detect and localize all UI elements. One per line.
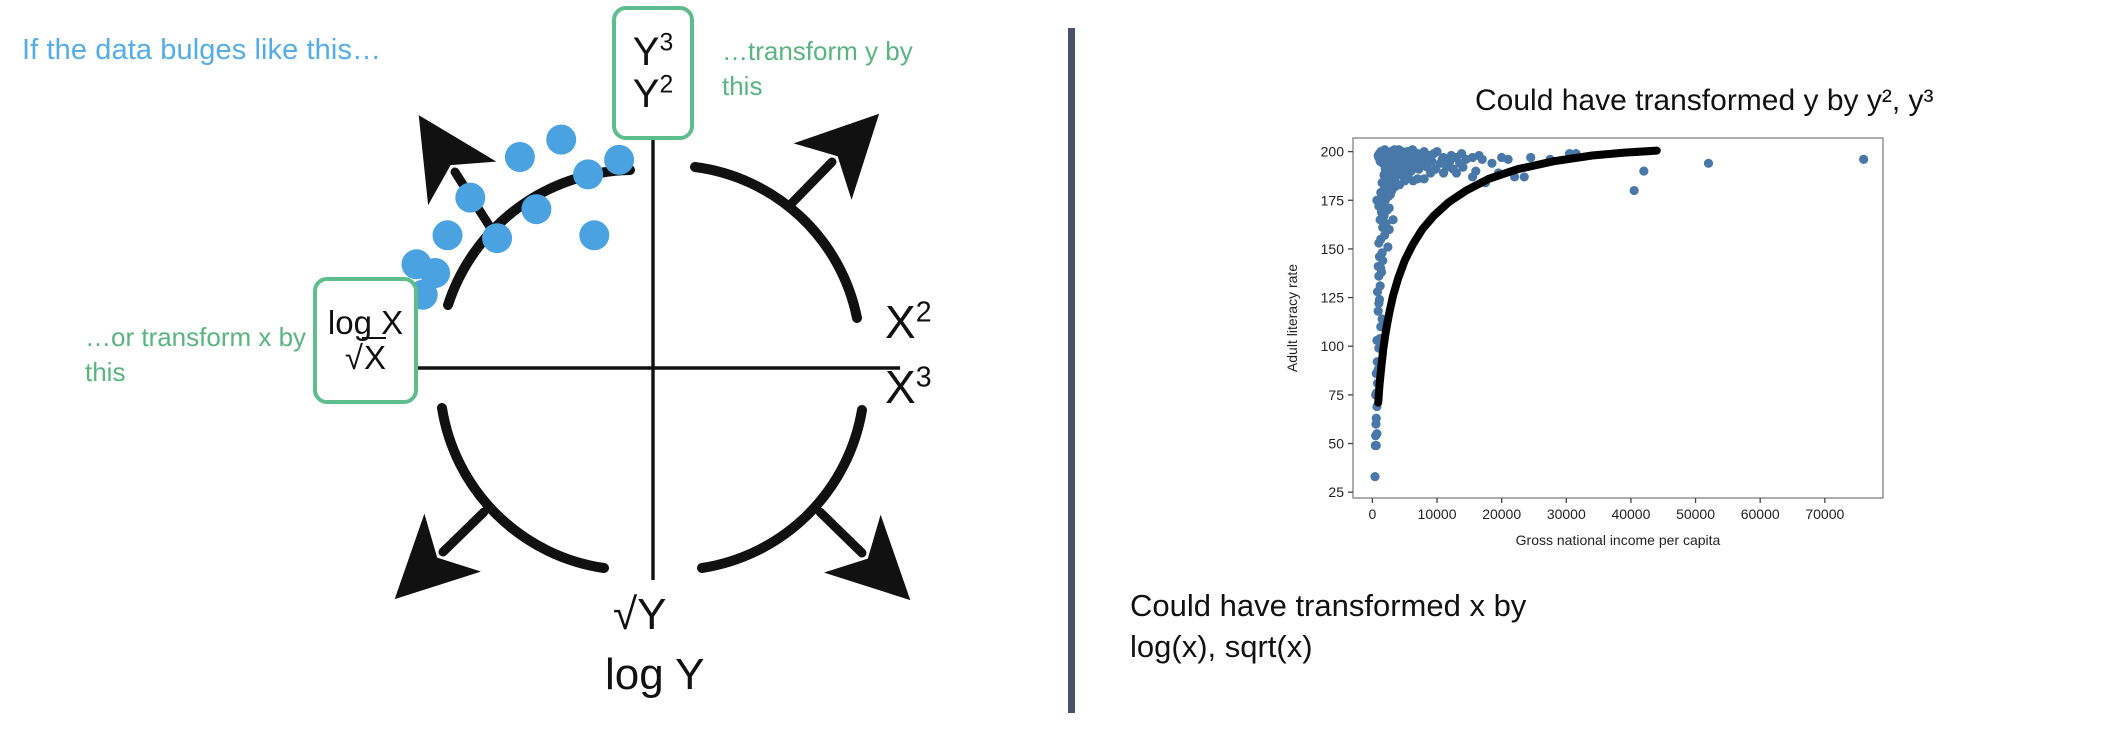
- arc-lower-right: [702, 410, 862, 568]
- scatter-point: [1374, 307, 1383, 316]
- axis-label-x-cubed: X3: [885, 360, 932, 414]
- x-tick-label: 60000: [1741, 506, 1780, 522]
- scatter-chart-panel: Could have transformed y by y², y³ 25507…: [1075, 0, 2122, 740]
- bulge-scatter-points: [402, 125, 635, 310]
- caption-x-transform: Could have transformed x by log(x), sqrt…: [1130, 586, 1550, 668]
- arrow-lower-left: [443, 512, 484, 552]
- bulge-point: [505, 142, 535, 172]
- bulge-point: [604, 145, 634, 175]
- axis-label-log-y: log Y: [605, 650, 705, 700]
- scatter-point: [1520, 172, 1529, 181]
- scatter-point: [1487, 159, 1496, 168]
- y-axis-ticks: 255075100125150175200: [1321, 144, 1353, 501]
- scatter-point: [1859, 155, 1868, 164]
- arc-lower-left: [442, 408, 604, 568]
- y-tick-label: 75: [1328, 387, 1344, 403]
- bulge-diagram-panel: If the data bulges like this… …transform…: [0, 0, 1040, 740]
- scatter-point: [1376, 281, 1385, 290]
- y-tick-label: 25: [1328, 484, 1344, 500]
- scatter-point: [1474, 151, 1483, 160]
- bulge-point: [455, 183, 485, 213]
- formula-sqrt-x: √X: [345, 341, 386, 376]
- arrow-lower-right: [820, 512, 862, 553]
- y-tick-label: 150: [1321, 241, 1345, 257]
- scatter-point: [1375, 295, 1384, 304]
- bulge-point: [482, 223, 512, 253]
- formula-y-square: Y2: [633, 74, 673, 114]
- formula-y-cube: Y3: [633, 32, 673, 72]
- scatter-point: [1457, 149, 1466, 158]
- chart-title: Could have transformed y by y², y³: [1475, 84, 1934, 118]
- bulge-diagram-svg: [0, 0, 1040, 740]
- scatter-point: [1432, 147, 1441, 156]
- x-tick-label: 70000: [1805, 506, 1844, 522]
- scatter-point: [1704, 159, 1713, 168]
- scatter-plot-svg: 255075100125150175200 010000200003000040…: [1275, 130, 1905, 565]
- chart-plot-area: 255075100125150175200 010000200003000040…: [1275, 130, 1905, 565]
- y-tick-label: 100: [1321, 338, 1345, 354]
- scatter-point: [1372, 441, 1381, 450]
- scatter-point: [1370, 472, 1379, 481]
- arc-upper-right: [695, 167, 857, 318]
- scatter-point: [1380, 145, 1389, 154]
- y-axis-title: Adult literacy rate: [1284, 264, 1300, 372]
- formula-chip-y[interactable]: Y3 Y2: [612, 6, 694, 140]
- bulge-point: [579, 220, 609, 250]
- panel-divider: [1068, 28, 1075, 713]
- bulge-point: [402, 249, 432, 279]
- scatter-point: [1526, 153, 1535, 162]
- scatter-point: [1497, 153, 1506, 162]
- scatter-point: [1372, 429, 1381, 438]
- y-tick-label: 200: [1321, 144, 1345, 160]
- scatter-point: [1420, 147, 1429, 156]
- scatter-point: [1372, 196, 1381, 205]
- y-tick-label: 50: [1328, 436, 1344, 452]
- x-tick-label: 40000: [1611, 506, 1650, 522]
- y-tick-label: 175: [1321, 192, 1345, 208]
- slide-canvas: If the data bulges like this… …transform…: [0, 0, 2122, 740]
- bulge-point: [433, 220, 463, 250]
- bulge-point: [521, 194, 551, 224]
- axis-label-x-squared: X2: [885, 295, 932, 349]
- plot-frame: [1353, 138, 1883, 498]
- axis-label-sqrt-y: √Y: [613, 590, 667, 640]
- arrow-upper-right: [790, 162, 832, 205]
- scatter-point: [1372, 414, 1381, 423]
- bulge-point: [546, 125, 576, 155]
- scatter-point: [1383, 242, 1392, 251]
- x-tick-label: 0: [1368, 506, 1376, 522]
- scatter-point: [1394, 145, 1403, 154]
- formula-log-x: log X: [328, 306, 403, 341]
- x-axis-title: Gross national income per capita: [1516, 532, 1721, 548]
- scatter-point: [1630, 186, 1639, 195]
- x-axis-ticks: 010000200003000040000500006000070000: [1368, 498, 1844, 522]
- x-tick-label: 50000: [1676, 506, 1715, 522]
- scatter-point: [1447, 151, 1456, 160]
- bulge-point: [573, 159, 603, 189]
- scatter-point: [1388, 215, 1397, 224]
- scatter-point: [1408, 145, 1417, 154]
- y-tick-label: 125: [1321, 290, 1345, 306]
- x-tick-label: 10000: [1418, 506, 1457, 522]
- scatter-point: [1639, 166, 1648, 175]
- scatter-point: [1471, 166, 1480, 175]
- formula-chip-x[interactable]: log X √X: [313, 277, 418, 404]
- x-tick-label: 30000: [1547, 506, 1586, 522]
- x-tick-label: 20000: [1482, 506, 1521, 522]
